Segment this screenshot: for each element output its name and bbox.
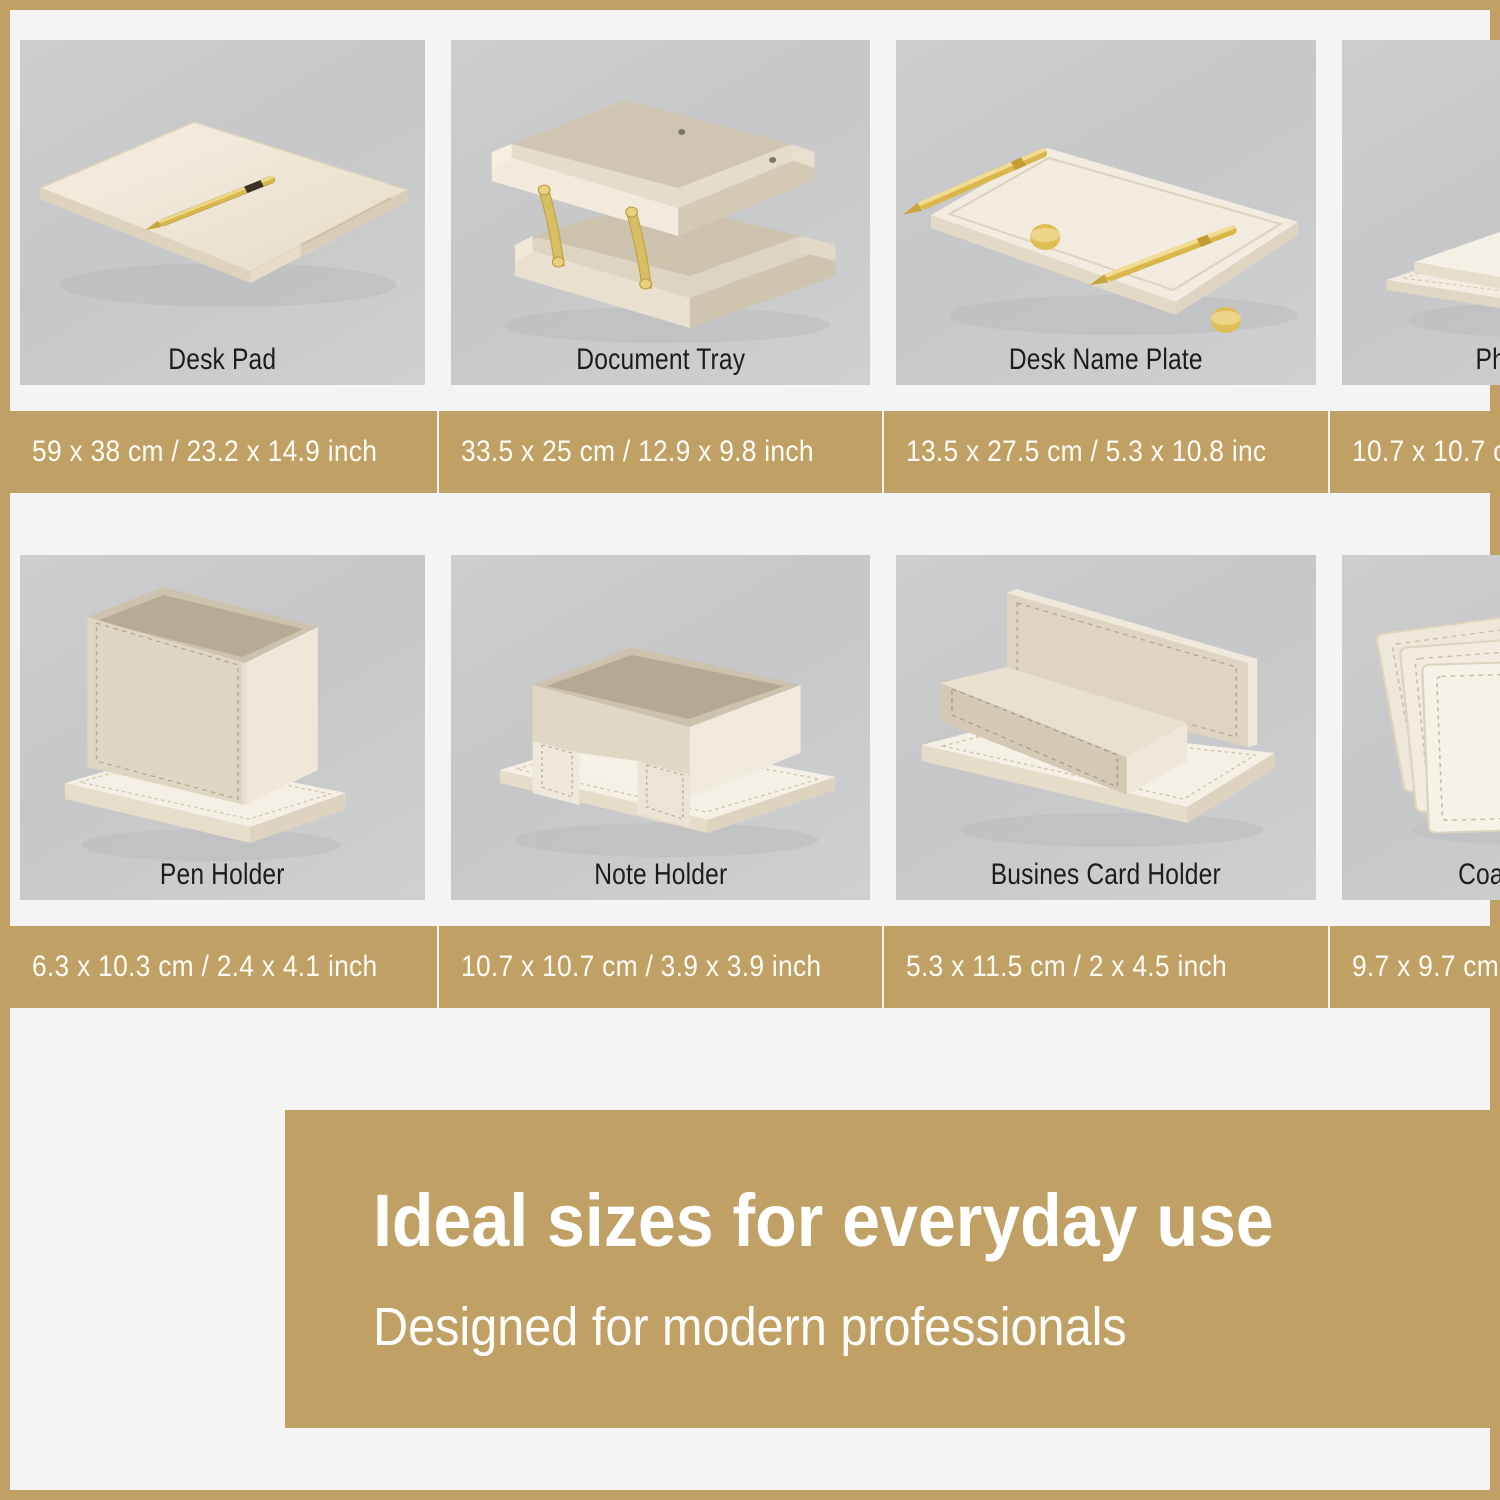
- product-size-text: 10.7 x 10.7 cm / 3.9 x 3.9 inch: [461, 950, 821, 984]
- product-caption: Note Holder: [488, 858, 832, 892]
- product-size-text: 10.7 x 10.7 cm / 3.9 x 3.9 inch: [1352, 435, 1500, 469]
- product-size-bar: 13.5 x 27.5 cm / 5.3 x 10.8 inc: [884, 411, 1328, 493]
- product-size-bar: 33.5 x 25 cm / 12.9 x 9.8 inch: [439, 411, 883, 493]
- desk-pad-photo: [20, 40, 425, 385]
- note-holder-photo: [451, 555, 871, 900]
- product-size-grid: Desk Pad 59 x 38 cm / 23.2 x 14.9 inch: [20, 40, 1500, 1008]
- gold-frame-border: Desk Pad 59 x 38 cm / 23.2 x 14.9 inch: [0, 0, 1500, 1500]
- product-size-bar: 6.3 x 10.3 cm / 2.4 x 4.1 inch: [10, 926, 437, 1008]
- product-size-text: 6.3 x 10.3 cm / 2.4 x 4.1 inch: [32, 950, 377, 984]
- product-size-text: 5.3 x 11.5 cm / 2 x 4.5 inch: [906, 950, 1227, 984]
- product-size-text: 33.5 x 25 cm / 12.9 x 9.8 inch: [461, 435, 814, 469]
- product-cell-business-card-holder[interactable]: Busines Card Holder 5.3 x 11.5 cm / 2 x …: [896, 555, 1316, 1008]
- product-size-bar: 9.7 x 9.7 cm / 3.8 x 3.8 inch: [1330, 926, 1500, 1008]
- product-caption: Pen Holder: [56, 858, 388, 892]
- business-card-holder-photo: [896, 555, 1316, 900]
- product-photo-coaster: Coaster ( 3 Pcs ): [1342, 555, 1500, 900]
- product-photo-desk-pad: Desk Pad: [20, 40, 425, 385]
- document-tray-photo: [451, 40, 871, 385]
- product-photo-phone-holder: Phone Holder: [1342, 40, 1500, 385]
- banner-subline: Designed for modern professionals: [373, 1300, 1378, 1354]
- product-caption: Phone Holder: [1379, 343, 1500, 377]
- product-size-bar: 5.3 x 11.5 cm / 2 x 4.5 inch: [884, 926, 1328, 1008]
- product-size-bar: 10.7 x 10.7 cm / 3.9 x 3.9 inch: [439, 926, 883, 1008]
- banner-headline: Ideal sizes for everyday use: [373, 1184, 1401, 1258]
- desk-name-plate-photo: [896, 40, 1316, 385]
- product-photo-pen-holder: Pen Holder: [20, 555, 425, 900]
- product-caption: Document Tray: [488, 343, 832, 377]
- product-caption: Desk Name Plate: [934, 343, 1278, 377]
- product-photo-note-holder: Note Holder: [451, 555, 871, 900]
- product-cell-pen-holder[interactable]: Pen Holder 6.3 x 10.3 cm / 2.4 x 4.1 inc…: [20, 555, 425, 1008]
- product-size-bar: 59 x 38 cm / 23.2 x 14.9 inch: [10, 411, 437, 493]
- product-size-text: 9.7 x 9.7 cm / 3.8 x 3.8 inch: [1352, 950, 1500, 984]
- product-photo-business-card-holder: Busines Card Holder: [896, 555, 1316, 900]
- product-size-bar: 10.7 x 10.7 cm / 3.9 x 3.9 inch: [1330, 411, 1500, 493]
- product-cell-desk-name-plate[interactable]: Desk Name Plate 13.5 x 27.5 cm / 5.3 x 1…: [896, 40, 1316, 493]
- product-caption: Busines Card Holder: [934, 858, 1278, 892]
- product-cell-desk-pad[interactable]: Desk Pad 59 x 38 cm / 23.2 x 14.9 inch: [20, 40, 425, 493]
- bottom-banner: Ideal sizes for everyday use Designed fo…: [285, 1110, 1490, 1428]
- coaster-photo: [1342, 555, 1500, 900]
- product-size-text: 59 x 38 cm / 23.2 x 14.9 inch: [32, 435, 377, 469]
- product-cell-phone-holder[interactable]: Phone Holder 10.7 x 10.7 cm / 3.9 x 3.9 …: [1342, 40, 1500, 493]
- product-cell-note-holder[interactable]: Note Holder 10.7 x 10.7 cm / 3.9 x 3.9 i…: [451, 555, 871, 1008]
- product-photo-document-tray: Document Tray: [451, 40, 871, 385]
- phone-holder-photo: [1342, 40, 1500, 385]
- pen-holder-photo: [20, 555, 425, 900]
- product-caption: Desk Pad: [56, 343, 388, 377]
- product-cell-coaster[interactable]: Coaster ( 3 Pcs ) 9.7 x 9.7 cm / 3.8 x 3…: [1342, 555, 1500, 1008]
- product-photo-desk-name-plate: Desk Name Plate: [896, 40, 1316, 385]
- product-caption: Coaster ( 3 Pcs ): [1379, 858, 1500, 892]
- product-size-text: 13.5 x 27.5 cm / 5.3 x 10.8 inc: [906, 435, 1266, 469]
- product-cell-document-tray[interactable]: Document Tray 33.5 x 25 cm / 12.9 x 9.8 …: [451, 40, 871, 493]
